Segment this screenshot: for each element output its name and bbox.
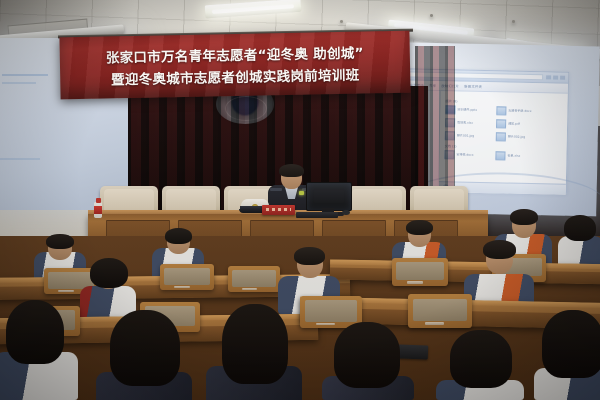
student-hair-long [222,304,288,384]
student-hair-long [450,330,512,388]
student-hair-long [90,258,128,288]
keyboard[interactable] [296,212,338,218]
student-hair-long [542,310,600,378]
student-front-2 [96,312,192,400]
seat-clip [425,322,444,325]
student-hair [294,247,325,265]
seat-pad [232,270,276,287]
file-name: 照片002.jpg [508,135,525,139]
content-group-pictures: 图片 (8) [446,98,563,105]
monitor-screen [306,182,352,211]
window-controls[interactable] [546,75,565,79]
file-name: 通知.pdf [508,122,520,126]
file-name: 培训课件.pptx [457,108,477,112]
student-hair [46,234,74,249]
sprinkler-head-5 [512,20,515,23]
student-front-1 [0,300,78,400]
seat-clip [407,281,424,284]
banner-line-2: 暨迎冬奥城市志愿者创城实践岗前培训班 [111,64,360,89]
student-front-6 [534,312,600,400]
bottle-label [94,206,102,214]
file-name: 名单.xlsx [507,154,520,158]
student-hair [406,220,433,235]
student-front-3 [206,304,302,400]
sprinkler-head-2 [340,20,343,23]
student-hair-long [110,310,180,386]
seat-pad [396,262,443,280]
desk-nameplate [262,205,295,215]
photo-scene: 组织 包含到库中 共享 放映幻灯片 新建文件夹 收藏夹 下载 桌面 最近访问的位… [0,0,600,400]
event-banner: 张家口市万名青年志愿者“迎冬奥 助创城” 暨迎冬奥城市志愿者创城实践岗前培训班 [59,31,410,100]
file-icon [496,119,506,128]
seat-pad [413,299,467,321]
file-item[interactable]: 志愿者手册.docx [496,106,538,116]
sprinkler-head-4 [430,14,433,17]
screen-left-content-line-2 [2,82,36,84]
file-name: 志愿者手册.docx [508,109,531,113]
student-hair [165,228,192,244]
officer-hair [279,164,304,177]
student-hair-long [564,215,596,241]
screen-left-content-line-1 [2,74,48,76]
student-hair [483,240,516,259]
file-icon-grid-1: 培训课件.pptx 志愿者手册.docx 签到表.xlsx 通知.pdf 照片0… [445,105,563,142]
screen-left-content-line-3 [0,158,40,160]
seat-clip [242,288,258,290]
toolbar-item-4[interactable]: 新建文件夹 [464,84,482,89]
officer-badge [299,191,304,195]
student-front-4 [322,320,414,400]
audience-seat [408,294,472,328]
audience-seat [160,264,214,290]
seat-pad [305,300,357,321]
student-front-5 [436,330,524,400]
file-icon [496,132,506,141]
seat-clip [58,290,74,292]
student-hair-long [6,300,64,364]
audience-seat [228,266,280,292]
seat-clip [174,286,190,288]
banner-line-1: 张家口市万名青年志愿者“迎冬奥 助创城” [106,42,364,67]
audience-seat [392,258,448,286]
file-icon-grid-2: 安排表.docx 名单.xlsx [444,150,561,161]
officer-epaulette-left [270,188,282,191]
file-name: 照片001.jpg [457,134,474,138]
file-item[interactable]: 通知.pdf [496,119,538,129]
file-name: 签到表.xlsx [457,121,473,125]
content-group-documents: 文档 (3) [445,143,562,150]
student-hair [510,209,538,225]
file-icon [495,151,505,160]
file-item[interactable]: 名单.xlsx [495,151,537,161]
file-icon [496,106,506,115]
mouse[interactable] [342,210,350,215]
file-item[interactable]: 照片002.jpg [496,132,538,142]
seat-pad [164,268,209,285]
bottle-cap [96,198,101,203]
water-bottle [94,198,102,218]
file-name: 安排表.docx [456,153,473,157]
student-hair-long [334,322,400,388]
